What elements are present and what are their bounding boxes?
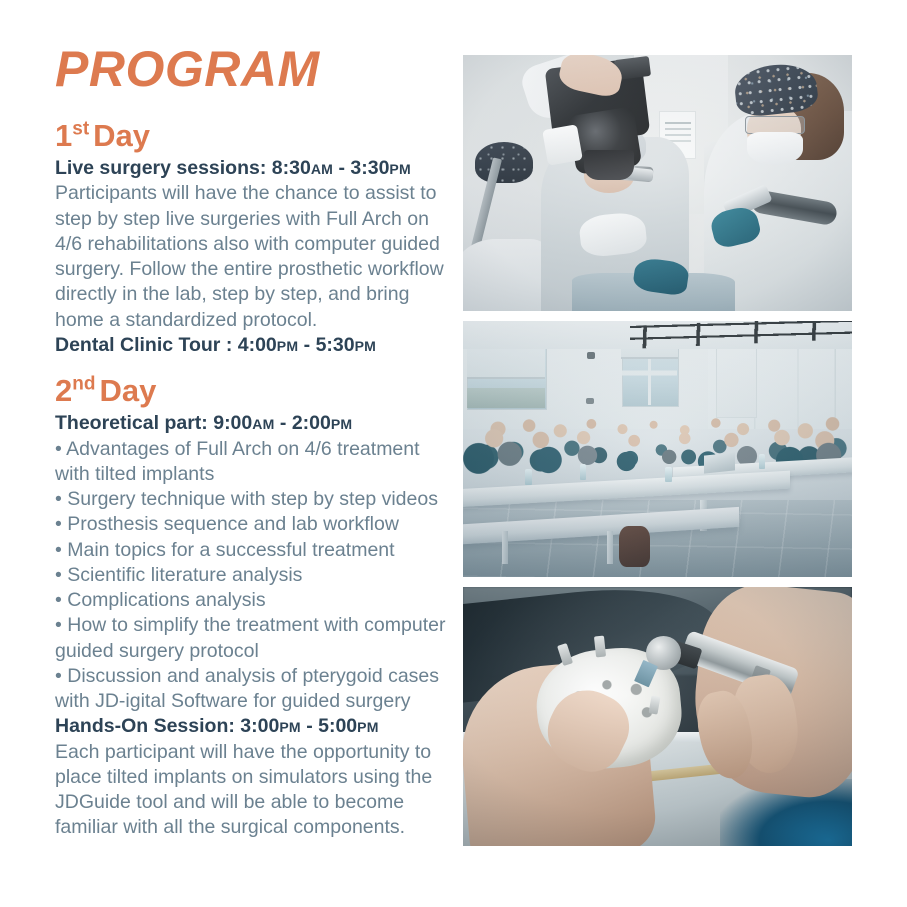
list-item: • Prosthesis sequence and lab workflow (55, 512, 455, 537)
day-2-handson-start-meridiem: PM (279, 719, 300, 735)
day-1-day-word: Day (93, 118, 150, 153)
day-2-theoretical-label: Theoretical part: (55, 412, 208, 434)
day-2-handson-end: 5:00 (318, 715, 357, 737)
list-item: • Main topics for a successful treatment (55, 538, 455, 563)
day-1-session-end-meridiem: PM (389, 161, 410, 177)
day-1-tour-start-meridiem: PM (277, 338, 298, 354)
day-2-theoretical-line: Theoretical part: 9:00AM - 2:00PM (55, 411, 455, 436)
day-2-handson-line: Hands-On Session: 3:00PM - 5:00PM (55, 714, 455, 739)
list-item: • Advantages of Full Arch on 4/6 treatme… (55, 437, 455, 488)
hands-on-model-photo (463, 587, 852, 846)
day-1-ordinal-number: 1 (55, 118, 72, 153)
list-item: • How to simplify the treatment with com… (55, 613, 455, 664)
day-1-session-start: 8:30 (272, 157, 311, 179)
day-1-session-end: 3:30 (350, 157, 389, 179)
day-2-handson-end-meridiem: PM (357, 719, 378, 735)
program-photo-column (463, 55, 852, 846)
list-item: • Surgery technique with step by step vi… (55, 487, 455, 512)
day-2-handson-label: Hands-On Session: (55, 715, 235, 737)
day-1-tour-line: Dental Clinic Tour : 4:00PM - 5:30PM (55, 333, 455, 358)
list-item: • Scientific literature analysis (55, 563, 455, 588)
lecture-photo-tone (463, 321, 852, 577)
live-surgery-photo (463, 55, 852, 311)
day-1-paragraph: Participants will have the chance to ass… (55, 181, 455, 333)
day-1-tour-label: Dental Clinic Tour : (55, 334, 232, 356)
program-text-column: PROGRAM 1stDay Live surgery sessions: 8:… (55, 44, 455, 841)
day-2-theoretical-start: 9:00 (213, 412, 252, 434)
day-1-block: 1stDay Live surgery sessions: 8:30AM - 3… (55, 120, 455, 358)
day-2-theoretical-dash: - (274, 412, 291, 434)
day-2-handson-dash: - (301, 715, 318, 737)
handson-photo-tone (463, 587, 852, 846)
day-2-day-word: Day (99, 373, 156, 408)
list-item: • Discussion and analysis of pterygoid c… (55, 664, 455, 715)
day-1-heading: 1stDay (55, 120, 455, 151)
day-1-session-start-meridiem: AM (311, 161, 333, 177)
day-1-session-line: Live surgery sessions: 8:30AM - 3:30PM (55, 156, 455, 181)
day-2-theoretical-end-meridiem: PM (331, 416, 352, 432)
day-2-topic-list: • Advantages of Full Arch on 4/6 treatme… (55, 437, 455, 715)
day-2-handson-paragraph: Each participant will have the opportuni… (55, 740, 455, 841)
day-2-block: 2ndDay Theoretical part: 9:00AM - 2:00PM… (55, 375, 455, 840)
day-1-session-dash: - (333, 157, 350, 179)
day-1-tour-end: 5:30 (316, 334, 355, 356)
page-title: PROGRAM (55, 44, 455, 94)
list-item: • Complications analysis (55, 588, 455, 613)
day-2-theoretical-end: 2:00 (292, 412, 331, 434)
day-1-tour-end-meridiem: PM (355, 338, 376, 354)
day-2-theoretical-start-meridiem: AM (252, 416, 274, 432)
lecture-room-photo (463, 321, 852, 577)
surgery-photo-tone (463, 55, 852, 311)
program-page: PROGRAM 1stDay Live surgery sessions: 8:… (0, 0, 907, 907)
day-1-session-label: Live surgery sessions: (55, 157, 266, 179)
day-1-tour-start: 4:00 (238, 334, 277, 356)
day-2-heading: 2ndDay (55, 375, 455, 406)
day-1-tour-dash: - (298, 334, 315, 356)
day-2-ordinal-suffix: nd (72, 374, 95, 395)
day-1-ordinal-suffix: st (72, 119, 89, 140)
day-2-handson-start: 3:00 (240, 715, 279, 737)
day-2-ordinal-number: 2 (55, 373, 72, 408)
